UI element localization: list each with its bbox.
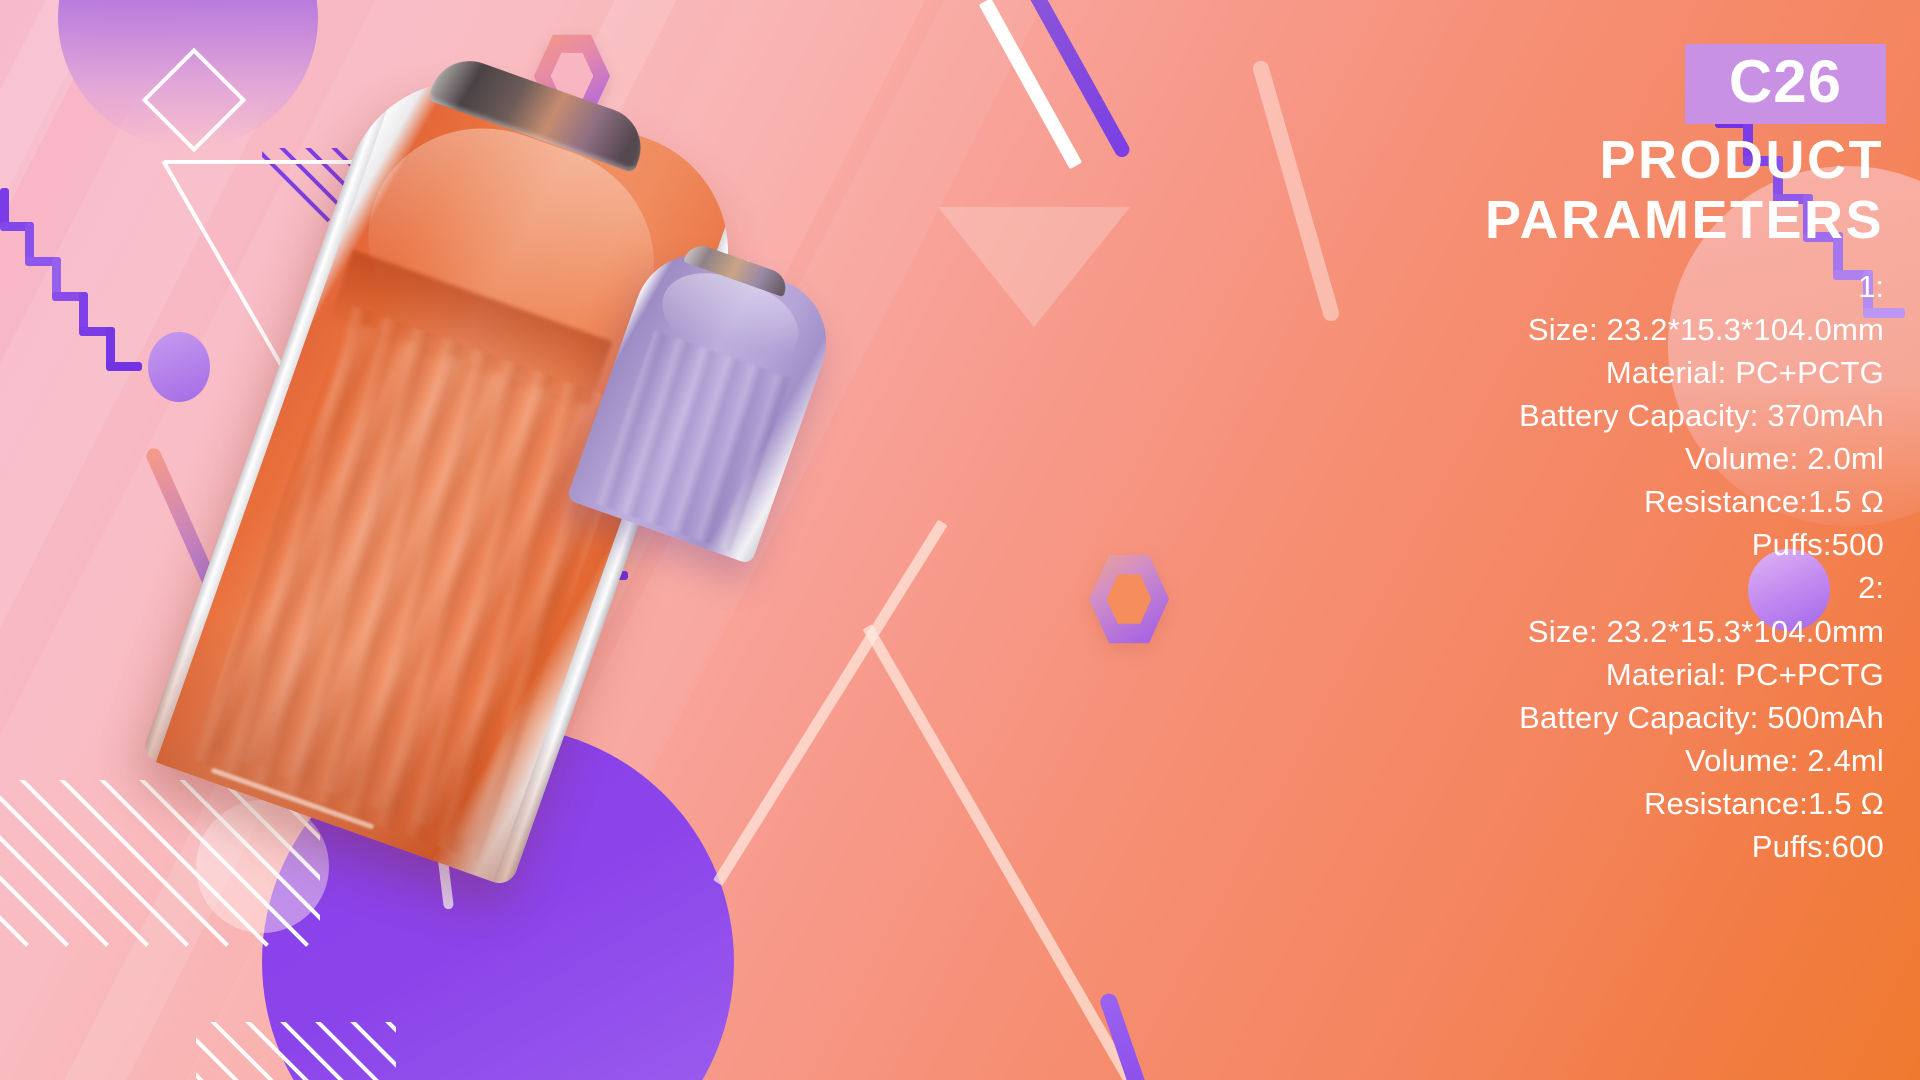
spec-resistance-1: Resistance:1.5 Ω bbox=[1134, 480, 1884, 523]
panel-title-line2: PARAMETERS bbox=[1134, 190, 1894, 250]
spec-material-1: Material: PC+PCTG bbox=[1134, 351, 1884, 394]
spec-resistance-2: Resistance:1.5 Ω bbox=[1134, 782, 1884, 825]
spec-volume-1: Volume: 2.0ml bbox=[1134, 437, 1884, 480]
spec-puffs-2: Puffs:600 bbox=[1134, 825, 1884, 868]
panel-title-line1: PRODUCT bbox=[1134, 130, 1894, 190]
spec-material-2: Material: PC+PCTG bbox=[1134, 653, 1884, 696]
spec-battery-2: Battery Capacity: 500mAh bbox=[1134, 696, 1884, 739]
spec-size-1: Size: 23.2*15.3*104.0mm bbox=[1134, 308, 1884, 351]
product-model-badge: C26 bbox=[1685, 44, 1886, 124]
spec-volume-2: Volume: 2.4ml bbox=[1134, 739, 1884, 782]
spec-size-2: Size: 23.2*15.3*104.0mm bbox=[1134, 610, 1884, 653]
spec-group-label-2: 2: bbox=[1134, 566, 1884, 609]
product-parameters-panel: C26 PRODUCT PARAMETERS 1: Size: 23.2*15.… bbox=[1134, 44, 1894, 868]
spec-battery-1: Battery Capacity: 370mAh bbox=[1134, 394, 1884, 437]
spec-puffs-1: Puffs:500 bbox=[1134, 523, 1884, 566]
spec-list: 1: Size: 23.2*15.3*104.0mm Material: PC+… bbox=[1134, 265, 1894, 868]
spec-group-label-1: 1: bbox=[1134, 265, 1884, 308]
poster-canvas: C26 PRODUCT PARAMETERS 1: Size: 23.2*15.… bbox=[0, 0, 1920, 1080]
